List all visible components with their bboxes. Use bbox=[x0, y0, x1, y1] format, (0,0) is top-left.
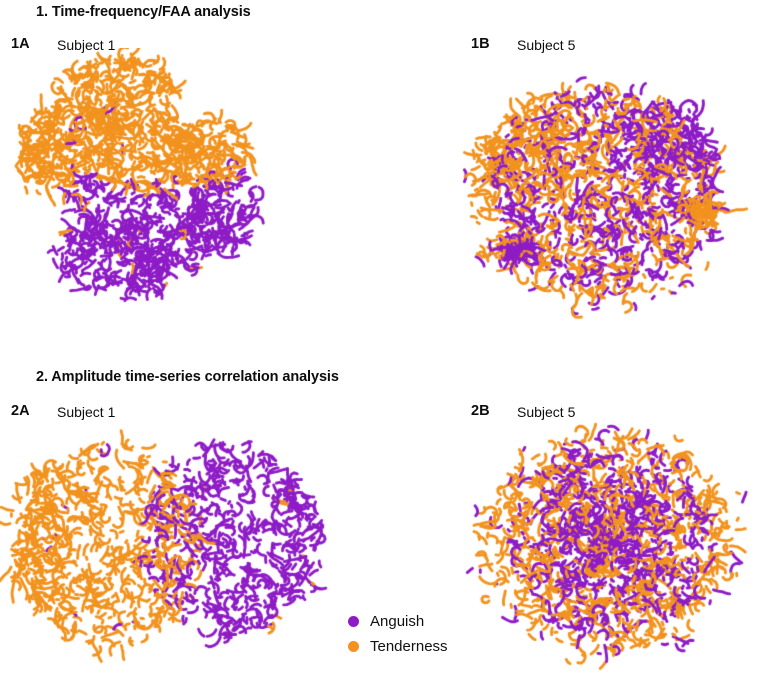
panel-tag-1b: 1B bbox=[471, 36, 490, 52]
scatter-plot-1b bbox=[440, 60, 765, 350]
panel-tag-2b: 2B bbox=[471, 403, 490, 419]
legend-item-anguish: Anguish bbox=[348, 609, 448, 634]
panel-subtitle-2a: Subject 1 bbox=[57, 404, 115, 420]
panel-subtitle-1b: Subject 5 bbox=[517, 37, 575, 53]
legend-item-tenderness: Tenderness bbox=[348, 634, 448, 659]
legend-color-swatch-tenderness bbox=[348, 641, 359, 652]
panel-subtitle-2b: Subject 5 bbox=[517, 404, 575, 420]
legend-label-anguish: Anguish bbox=[370, 614, 424, 629]
section-title-1: 1. Time-frequency/FAA analysis bbox=[36, 4, 251, 20]
legend: Anguish Tenderness bbox=[348, 609, 448, 659]
panel-tag-2a: 2A bbox=[11, 403, 30, 419]
scatter-plot-1a bbox=[0, 48, 330, 348]
scatter-plot-2b bbox=[440, 420, 765, 673]
figure-root: 1. Time-frequency/FAA analysis 1A Subjec… bbox=[0, 0, 765, 673]
legend-color-swatch-anguish bbox=[348, 616, 359, 627]
scatter-plot-2a bbox=[0, 425, 345, 673]
section-title-2: 2. Amplitude time-series correlation ana… bbox=[36, 369, 339, 385]
legend-label-tenderness: Tenderness bbox=[370, 639, 448, 654]
